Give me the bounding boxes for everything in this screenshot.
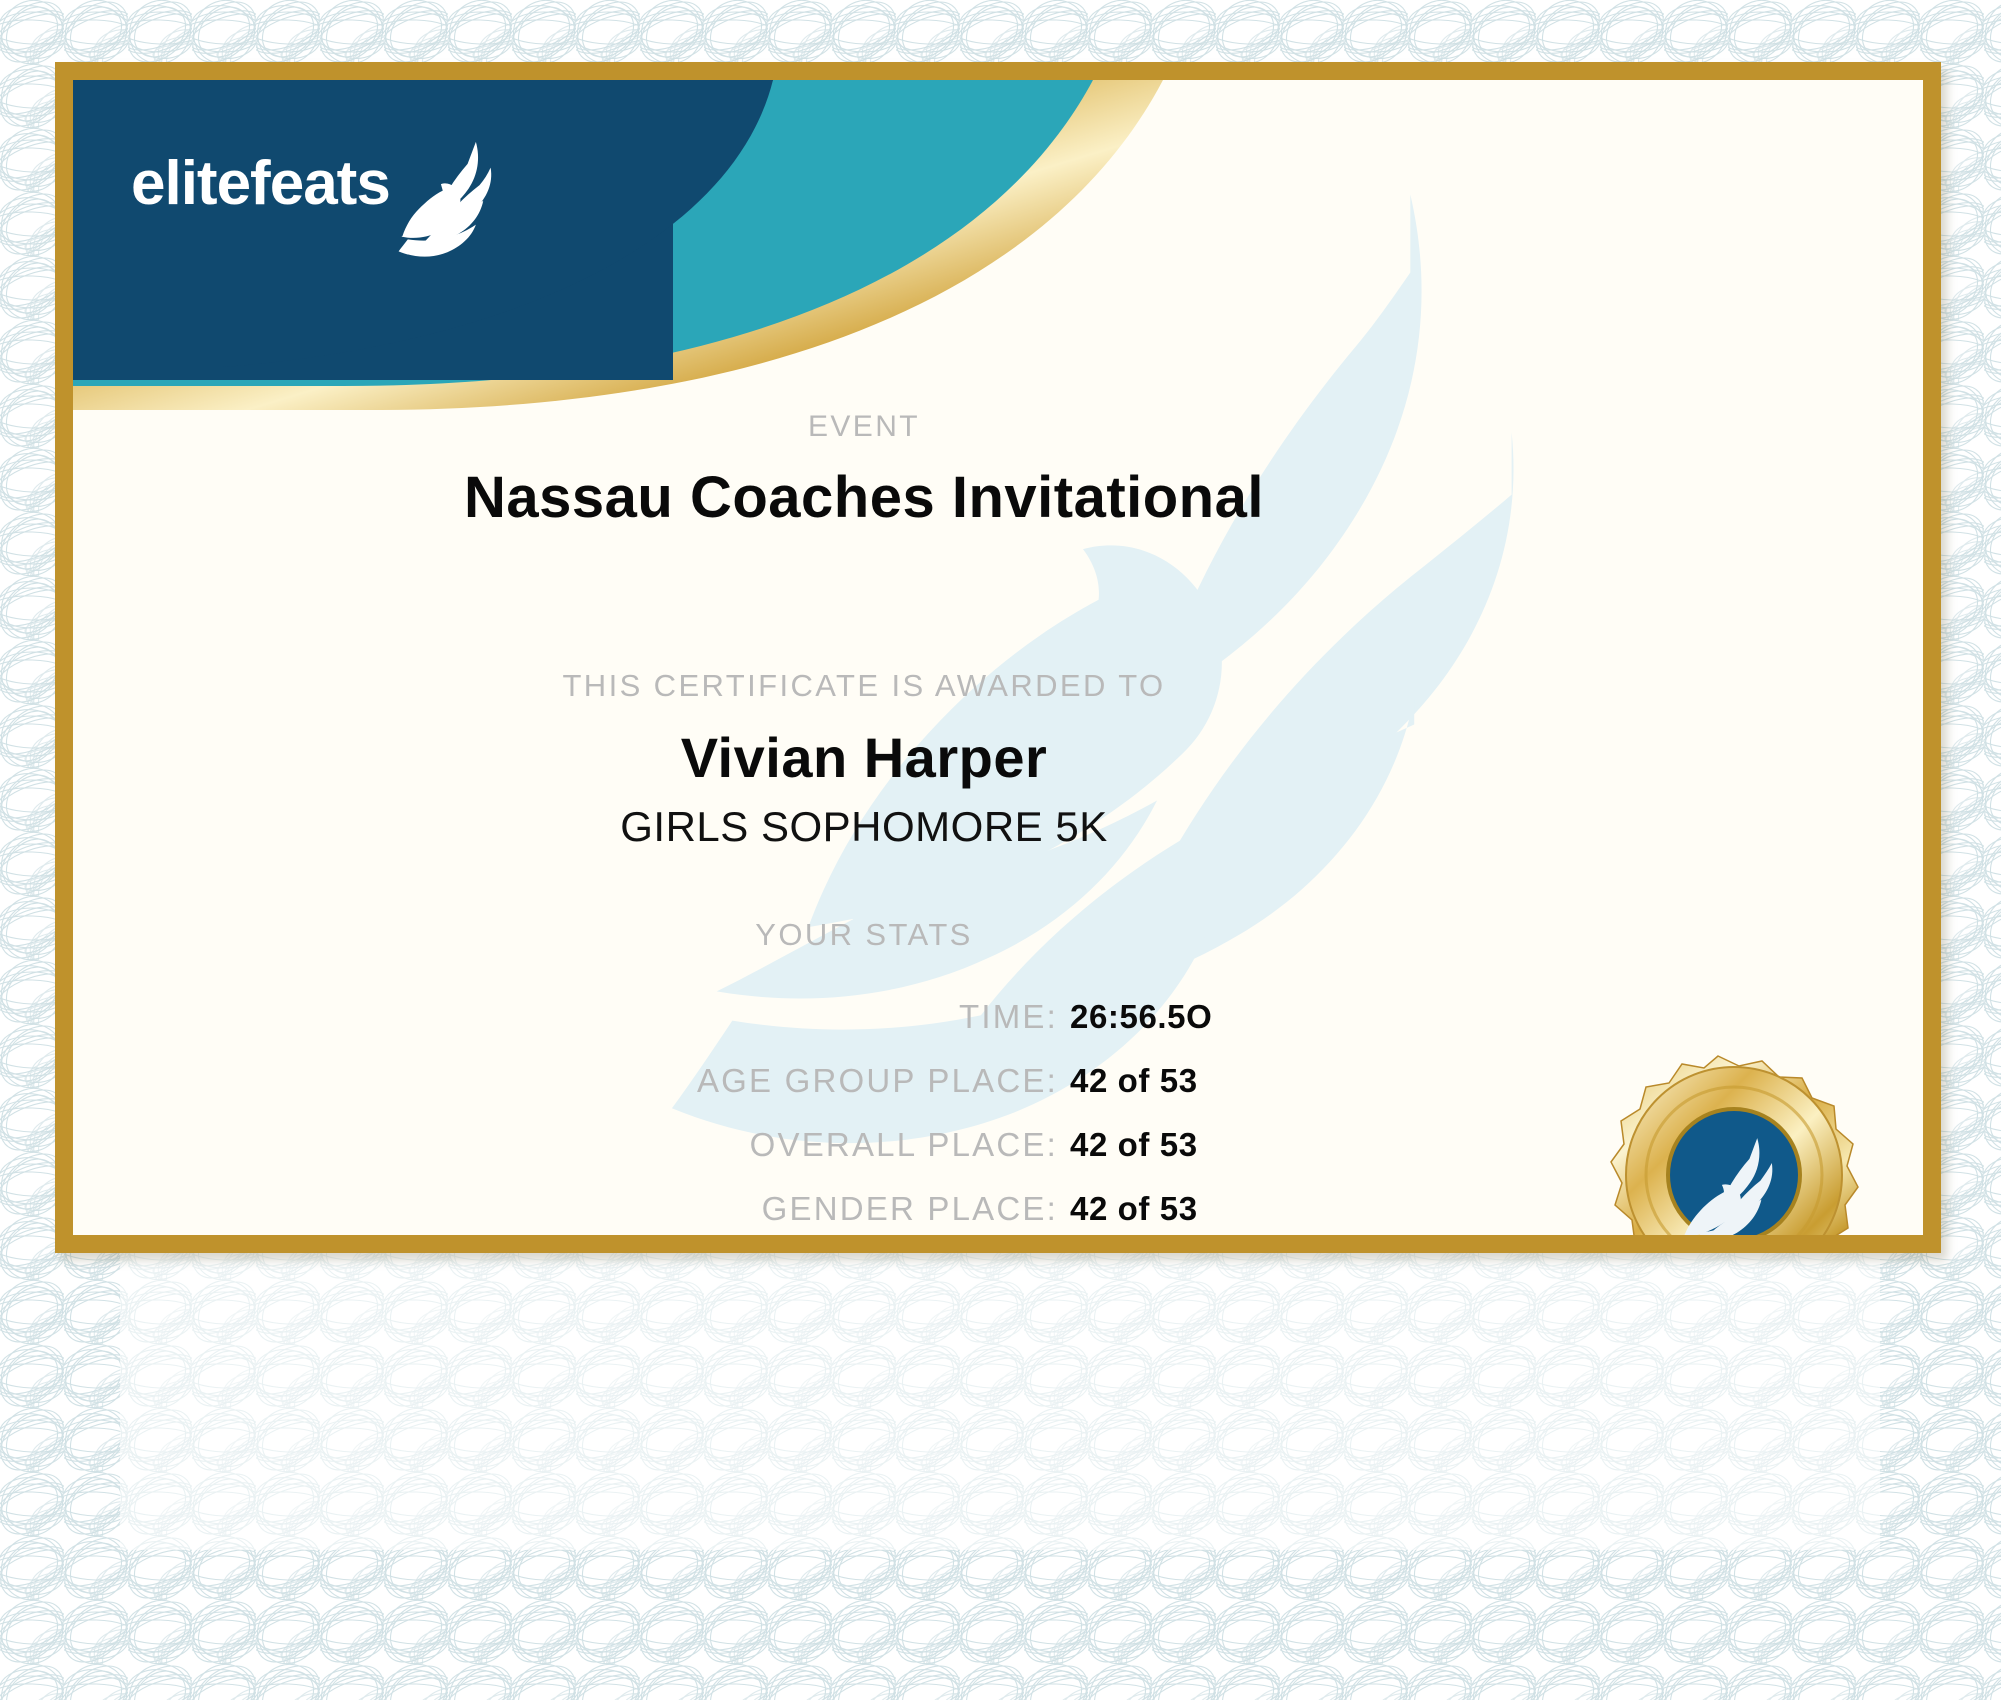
medal-body: [1611, 1056, 1858, 1235]
stat-row: GENDER PLACE: 42 of 53: [73, 1190, 1655, 1228]
event-name: Nassau Coaches Invitational: [73, 464, 1655, 531]
stat-row: TIME: 26:56.5O: [73, 998, 1655, 1036]
stat-value-gender-place: 42 of 53: [1070, 1190, 1330, 1228]
stat-value-overall-place: 42 of 53: [1070, 1126, 1330, 1164]
stat-row: AGE GROUP PLACE: 42 of 53: [73, 1062, 1655, 1100]
recipient-name: Vivian Harper: [73, 725, 1655, 790]
certificate-card: elitefeats EVENT Nassau Coaches Invitati…: [55, 62, 1941, 1253]
finisher-medal-seal: 2025: [1553, 1048, 1883, 1235]
stats-table: TIME: 26:56.5O AGE GROUP PLACE: 42 of 53…: [73, 998, 1655, 1235]
stat-key-time: TIME:: [398, 998, 1070, 1036]
certificate-inner-panel: elitefeats EVENT Nassau Coaches Invitati…: [73, 80, 1923, 1235]
stat-value-age-group-place: 42 of 53: [1070, 1062, 1330, 1100]
stat-row: OVERALL PLACE: 42 of 53: [73, 1126, 1655, 1164]
awarded-to-label: THIS CERTIFICATE IS AWARDED TO: [73, 668, 1655, 704]
stat-key-age-group-place: AGE GROUP PLACE:: [398, 1062, 1070, 1100]
event-label: EVENT: [73, 410, 1655, 444]
stat-key-overall-place: OVERALL PLACE:: [398, 1126, 1070, 1164]
stat-key-gender-place: GENDER PLACE:: [398, 1190, 1070, 1228]
stat-value-time: 26:56.5O: [1070, 998, 1330, 1036]
division-name: GIRLS SOPHOMORE 5K: [73, 803, 1655, 851]
certificate-content: EVENT Nassau Coaches Invitational THIS C…: [73, 80, 1923, 1235]
your-stats-label: YOUR STATS: [73, 917, 1655, 953]
